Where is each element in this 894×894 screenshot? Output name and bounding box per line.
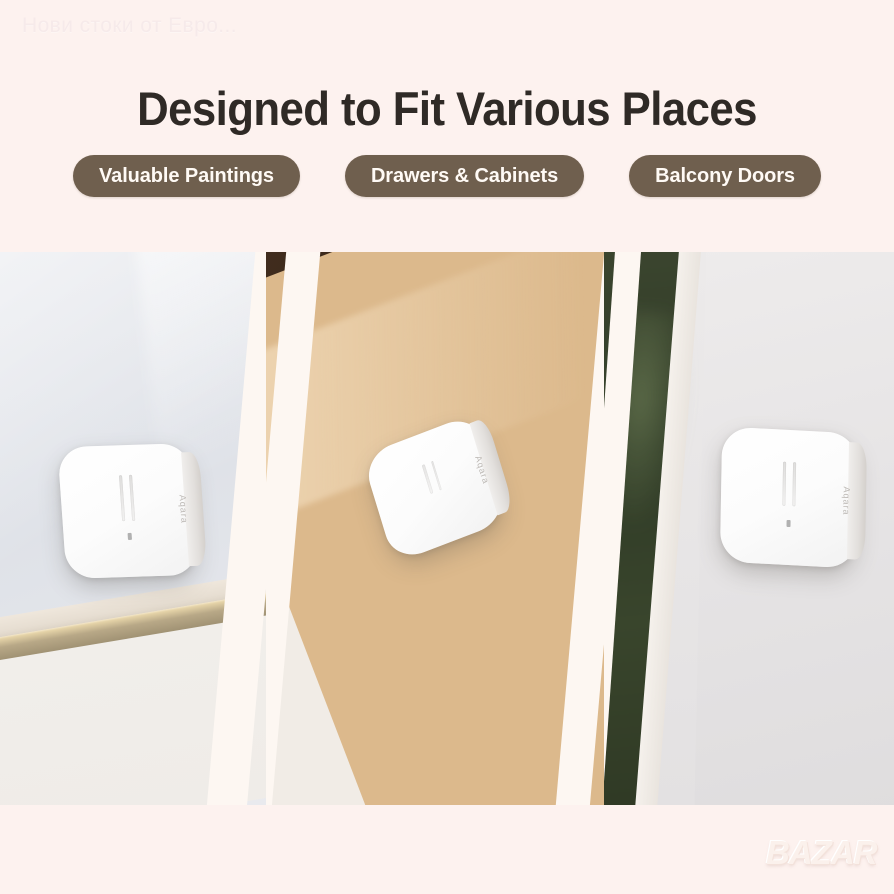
site-watermark-top: Нови стоки от Евро... [22, 14, 237, 38]
pill-label: Valuable Paintings [99, 165, 274, 188]
aqara-vibration-sensor: Aqara [57, 443, 198, 579]
bazar-wordmark: BAZAR [766, 830, 876, 876]
photo-panel-balcony-doors: Aqara [604, 252, 894, 805]
pill-valuable-paintings[interactable]: Valuable Paintings [73, 155, 300, 197]
sensor-grooves-icon [422, 461, 442, 494]
sensor-grooves-icon [119, 475, 135, 521]
pill-label: Drawers & Cabinets [371, 165, 558, 188]
pill-balcony-doors[interactable]: Balcony Doors [629, 155, 821, 197]
photo-panel-valuable-paintings: Aqara [0, 252, 266, 805]
page-title: Designed to Fit Various Places [31, 81, 862, 137]
bazar-watermark-logo: BAZAR [766, 830, 876, 876]
photo-strip: Aqara Aqara [0, 252, 894, 805]
sensor-grooves-icon [782, 462, 796, 507]
feature-pill-row: Valuable Paintings Drawers & Cabinets Ba… [0, 155, 894, 197]
sensor-led-indicator [786, 520, 790, 527]
sensor-brand-label: Aqara [841, 486, 851, 516]
pill-label: Balcony Doors [655, 165, 795, 188]
aqara-vibration-sensor: Aqara [720, 426, 858, 568]
sensor-led-indicator [128, 533, 132, 540]
photo-panel-drawers-cabinets: Aqara [266, 252, 604, 805]
promo-page: Нови стоки от Евро... Designed to Fit Va… [0, 0, 894, 894]
sensor-brand-label: Aqara [177, 495, 189, 524]
pill-drawers-cabinets[interactable]: Drawers & Cabinets [345, 155, 584, 197]
